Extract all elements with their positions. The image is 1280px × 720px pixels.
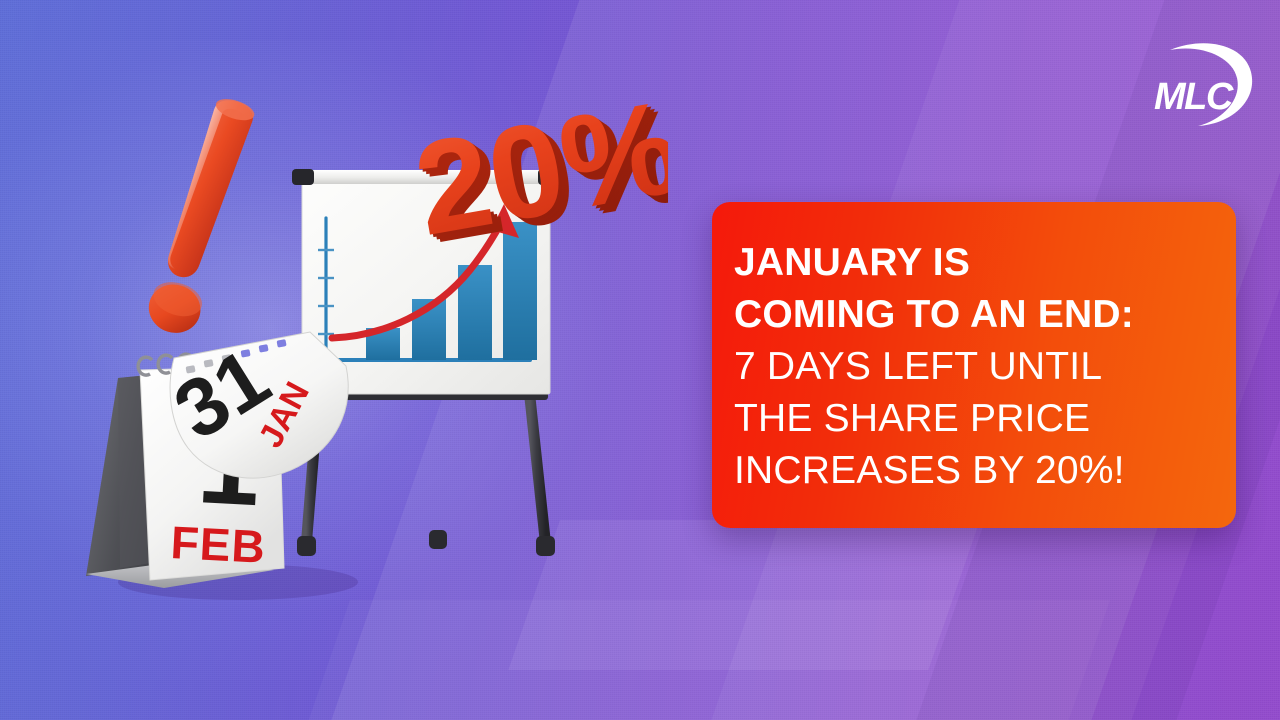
callout-line-3: 7 DAYS LEFT UNTIL — [734, 341, 1212, 393]
desk-calendar-icon: 1 FEB 31 — [78, 330, 398, 620]
callout-line-4: THE SHARE PRICE — [734, 393, 1212, 445]
calendar-front-month: FEB — [169, 516, 267, 573]
percent-badge: 20% 20% 20% 20% — [398, 88, 668, 278]
promo-banner: 20% 20% 20% 20% — [0, 0, 1280, 720]
mlc-logo[interactable]: MLC — [1148, 38, 1258, 128]
callout-line-1: JANUARY IS — [734, 237, 1212, 289]
promo-callout-box: JANUARY IS COMING TO AN END: 7 DAYS LEFT… — [712, 202, 1236, 528]
mlc-logo-text: MLC — [1154, 76, 1232, 119]
exclamation-mark-icon — [118, 96, 298, 346]
callout-line-2: COMING TO AN END: — [734, 289, 1212, 341]
callout-line-5: INCREASES BY 20%! — [734, 445, 1212, 497]
